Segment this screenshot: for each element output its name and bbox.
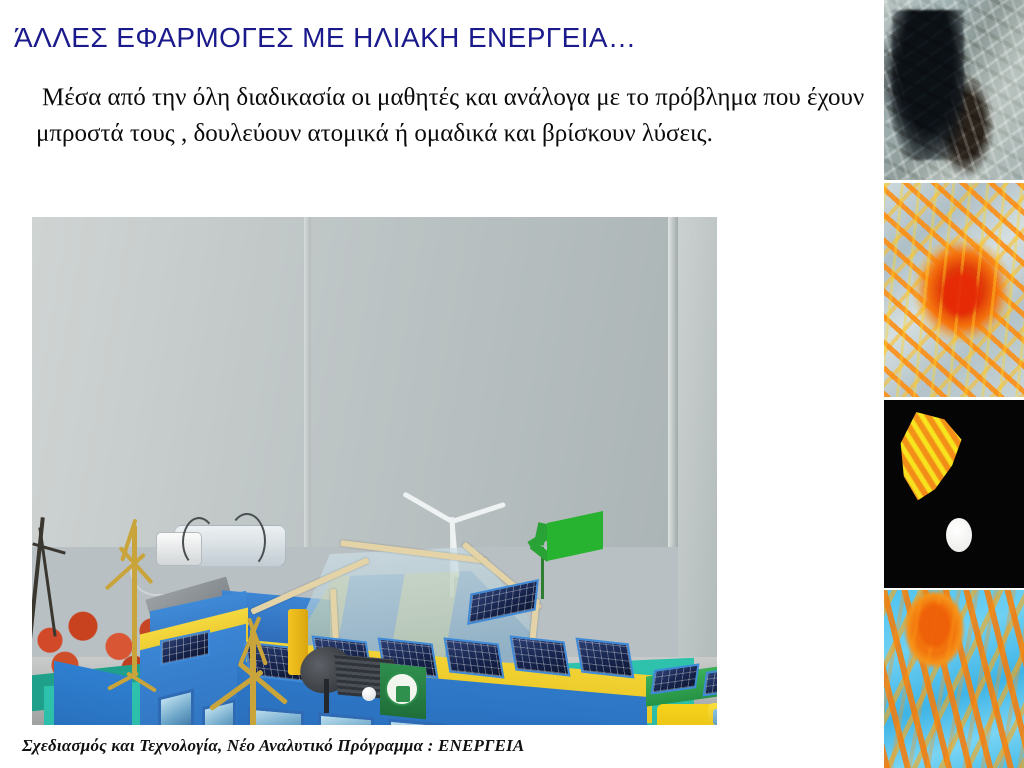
small-bulb-icon xyxy=(362,687,376,701)
lamp-wire xyxy=(228,513,266,569)
artwork-strip xyxy=(884,0,1024,768)
artwork-dark-figure xyxy=(884,0,1024,180)
flame-shape-icon xyxy=(896,412,974,504)
page-title: ΆΛΛΕΣ ΕΦΑΡΜΟΓΕΣ ΜΕ ΗΛΙΑΚΗ ΕΝΕΡΓΕΙΑ… xyxy=(14,22,874,54)
solar-panel xyxy=(509,635,570,676)
solar-house-model-photo xyxy=(32,217,717,725)
moon-icon xyxy=(946,518,972,552)
lamp-wire xyxy=(182,517,216,567)
dish-stem xyxy=(324,679,329,713)
artwork-flame-moon xyxy=(884,400,1024,588)
solar-panel xyxy=(575,637,634,678)
solar-panel xyxy=(443,637,504,678)
wall-right-panel xyxy=(678,217,717,677)
footer-caption: Σχεδιασμός και Τεχνολογία, Νέο Αναλυτικό… xyxy=(22,736,852,756)
tree-emblem-icon xyxy=(385,672,419,706)
body-paragraph: Μέσα από την όλη διαδικασία οι μαθητές κ… xyxy=(36,80,876,151)
artwork-dark-shape xyxy=(892,10,964,160)
photo-wall-background xyxy=(32,217,717,547)
artwork-sun-blue-sky xyxy=(884,590,1024,768)
wall-seam-right xyxy=(668,217,678,547)
artwork-orange-sun xyxy=(884,183,1024,397)
toy-truck-window xyxy=(713,709,717,725)
wire-tree-trunk xyxy=(132,525,137,675)
slide-canvas: ΆΛΛΕΣ ΕΦΑΡΜΟΓΕΣ ΜΕ ΗΛΙΑΚΗ ΕΝΕΡΓΕΙΑ… Μέσα… xyxy=(0,0,1024,768)
wall-seam xyxy=(304,217,311,547)
